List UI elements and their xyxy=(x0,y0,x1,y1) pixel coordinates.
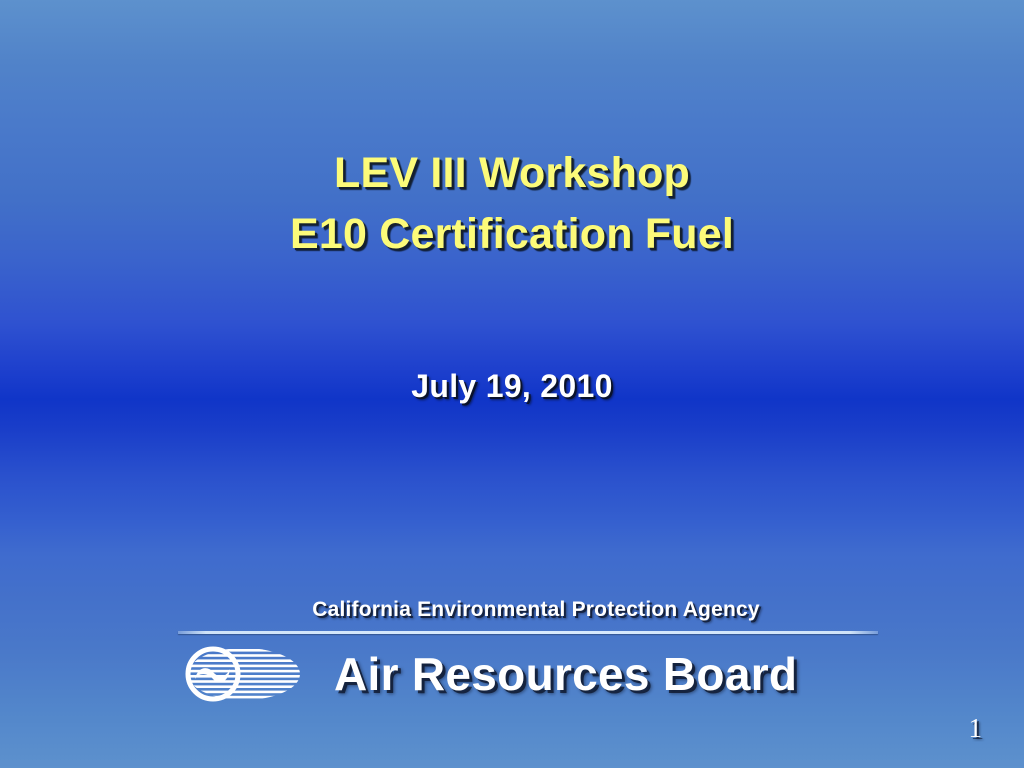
slide-title-line-2: E10 Certification Fuel xyxy=(0,204,1024,265)
agency-name: California Environmental Protection Agen… xyxy=(178,598,878,622)
organization-name: Air Resources Board xyxy=(334,651,797,697)
footer-divider xyxy=(178,631,878,634)
slide-footer: California Environmental Protection Agen… xyxy=(178,598,878,705)
air-resources-board-logo xyxy=(184,646,302,702)
slide-number: 1 xyxy=(969,713,983,744)
organization-row: Air Resources Board xyxy=(178,643,878,705)
slide-date: July 19, 2010 xyxy=(0,368,1024,405)
slide-title: LEV III Workshop E10 Certification Fuel xyxy=(0,143,1024,266)
presentation-slide: LEV III Workshop E10 Certification Fuel … xyxy=(0,0,1024,768)
slide-title-line-1: LEV III Workshop xyxy=(0,143,1024,204)
